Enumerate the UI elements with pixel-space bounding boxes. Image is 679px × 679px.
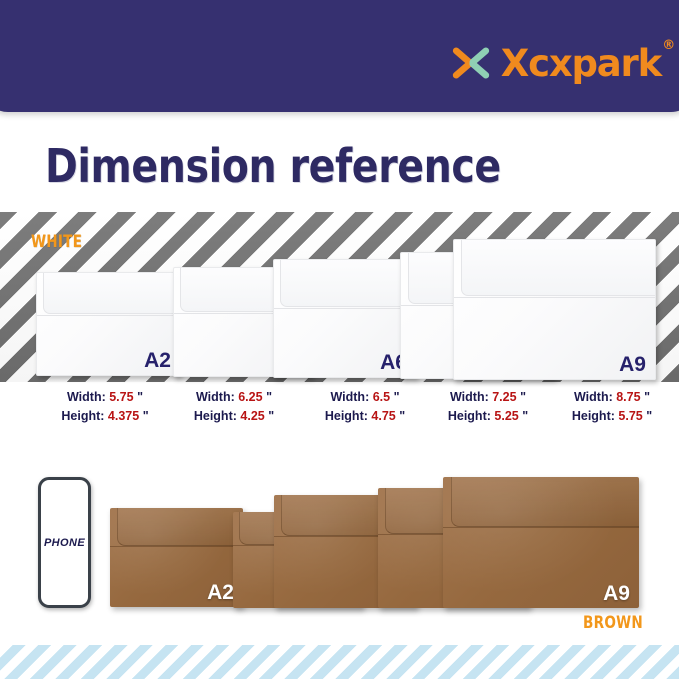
width-row: Width: 7.25 " [421,388,555,407]
width-value: 5.75 [109,390,133,404]
brand-name: Xcxpark [501,42,661,85]
envelope-seam [37,315,180,316]
height-row: Height: 4.375 " [40,407,170,426]
width-unit: " [644,390,650,404]
envelope-flap [280,259,417,307]
height-unit: " [399,409,405,423]
width-row: Width: 5.75 " [40,388,170,407]
envelope-flap [451,477,639,527]
width-value: 6.25 [238,390,262,404]
envelope-flap [117,508,243,546]
envelope-flap [461,239,656,296]
white-section-label: WHITE [31,232,82,252]
envelope-size-label: A2 [144,350,171,371]
width-row: Width: 6.5 " [300,388,430,407]
envelope-size-label: A2 [207,582,234,603]
x-logo-icon [450,42,492,84]
trademark-symbol: ® [662,39,674,52]
brown-section-label: BROWN [583,613,643,633]
dimension-column-a4: Width: 6.25 " Height: 4.25 " [169,388,299,426]
height-value: 4.25 [240,409,264,423]
width-row: Width: 8.75 " [545,388,679,407]
height-value: 4.75 [371,409,395,423]
envelope-flap [43,272,181,314]
width-unit: " [137,390,143,404]
width-value: 6.5 [373,390,390,404]
brown-envelope-a2: A2 [110,508,243,607]
height-row: Height: 4.25 " [169,407,299,426]
width-unit: " [394,390,400,404]
bottom-stripes [0,645,679,679]
height-value: 5.25 [494,409,518,423]
height-key: Height: [572,409,615,423]
envelope-size-label: A9 [619,354,646,375]
height-row: Height: 5.75 " [545,407,679,426]
dimension-column-a9: Width: 8.75 " Height: 5.75 " [545,388,679,426]
dimension-reference-infographic: Xcxpark ® Dimension reference WHITE A2 A… [0,0,679,679]
height-key: Height: [325,409,368,423]
width-value: 7.25 [492,390,516,404]
brand-name-wrap: Xcxpark ® [501,45,661,82]
width-unit: " [520,390,526,404]
brown-envelope-a9: A9 [443,477,639,608]
phone-label: PHONE [44,537,85,549]
brand-logo: Xcxpark ® [450,42,661,84]
white-envelope-a2: A2 [36,272,181,376]
height-unit: " [646,409,652,423]
width-key: Width: [574,390,613,404]
height-unit: " [268,409,274,423]
height-unit: " [522,409,528,423]
width-unit: " [266,390,272,404]
dimension-column-a2: Width: 5.75 " Height: 4.375 " [40,388,170,426]
width-value: 8.75 [616,390,640,404]
height-value: 4.375 [108,409,139,423]
dimension-column-a6: Width: 6.5 " Height: 4.75 " [300,388,430,426]
envelope-size-label: A9 [603,583,630,604]
height-key: Height: [61,409,104,423]
page-title: Dimension reference [45,139,501,193]
height-key: Height: [448,409,491,423]
height-row: Height: 5.25 " [421,407,555,426]
white-envelope-a9: A9 [453,239,656,380]
envelope-seam [110,546,243,547]
envelope-seam [454,297,655,298]
width-key: Width: [196,390,235,404]
dimension-column-a7: Width: 7.25 " Height: 5.25 " [421,388,555,426]
header-bar: Xcxpark ® [0,0,679,112]
height-unit: " [143,409,149,423]
envelope-seam [274,308,416,309]
height-value: 5.75 [618,409,642,423]
height-key: Height: [194,409,237,423]
envelope-seam [443,527,639,528]
phone-mockup: PHONE [38,477,91,608]
width-key: Width: [67,390,106,404]
height-row: Height: 4.75 " [300,407,430,426]
width-row: Width: 6.25 " [169,388,299,407]
width-key: Width: [450,390,489,404]
width-key: Width: [330,390,369,404]
white-envelope-a6: A6 [273,259,417,378]
dimension-table: Width: 5.75 " Height: 4.375 " Width: 6.2… [0,388,679,440]
